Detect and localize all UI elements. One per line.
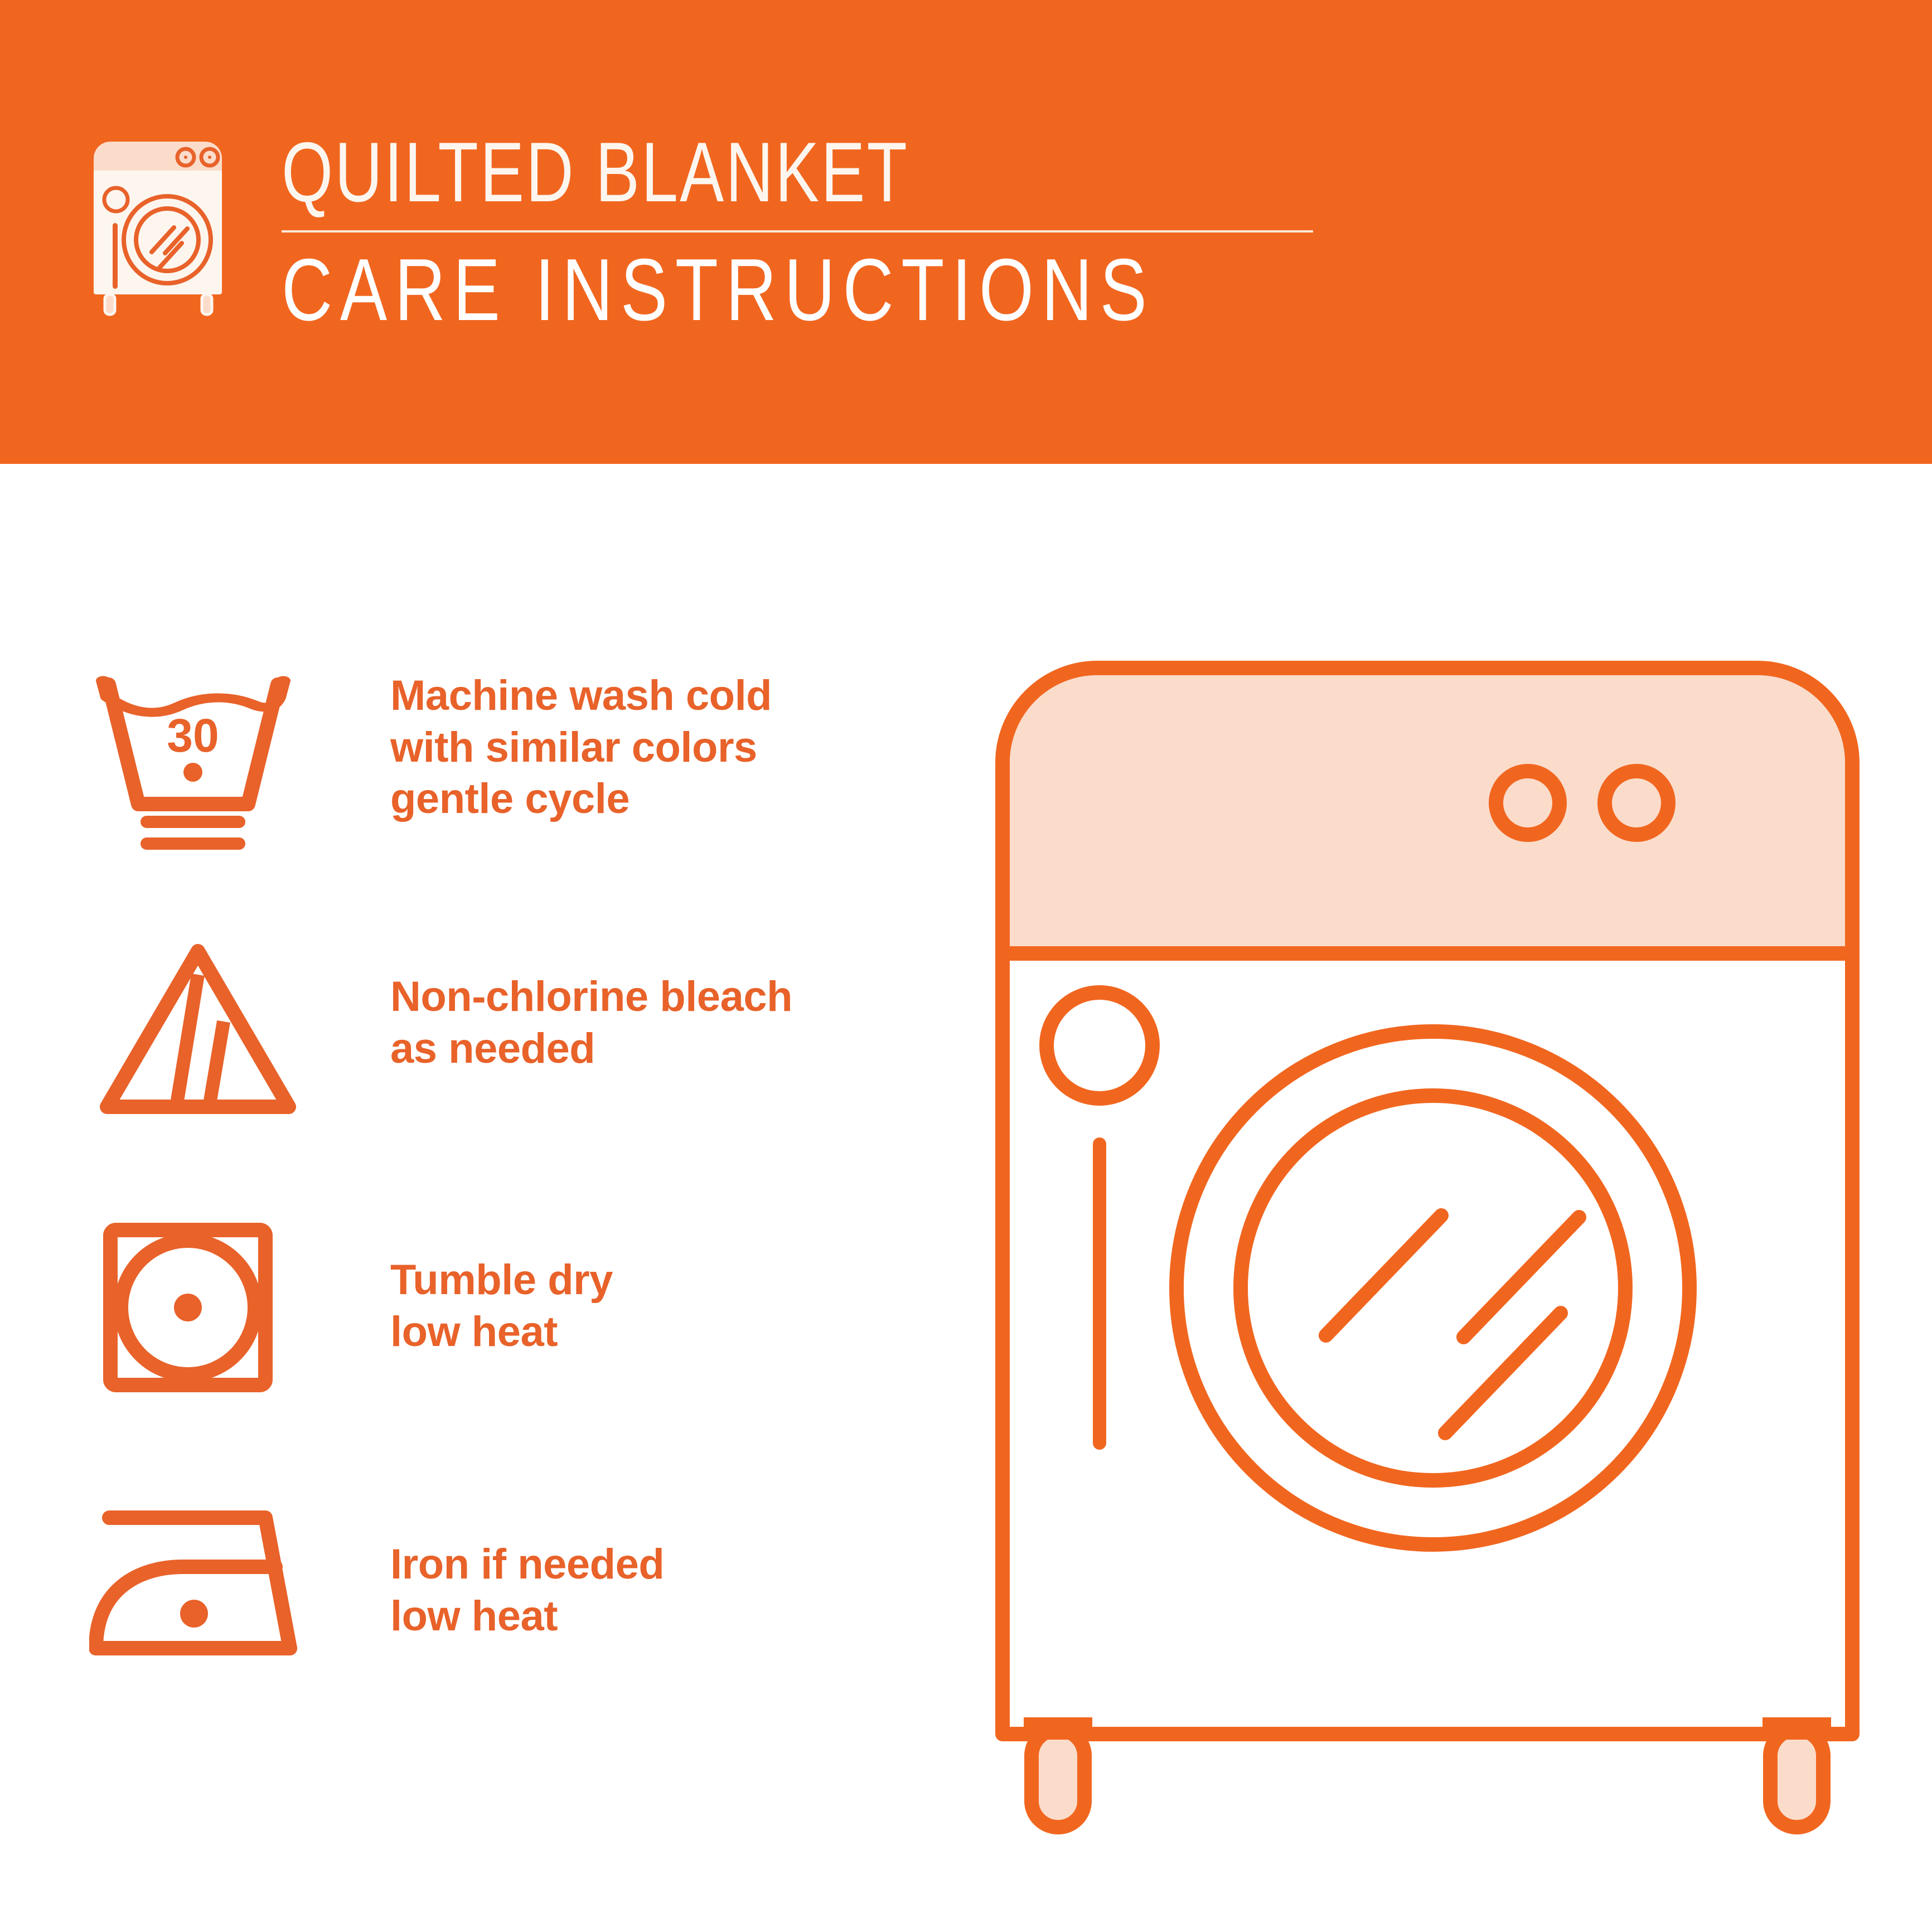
large-washing-machine-illustration [970,636,1885,1862]
title-divider [282,230,1313,233]
wash-temperature-value: 30 [167,709,219,762]
tumble-dry-low-heat-icon [101,1221,274,1394]
header-band: QUILTED BLANKET CARE INSTRUCTIONS [0,0,1932,464]
care-instruction-list: 30 Machine wash cold with similar colors… [0,658,937,1751]
wash-tub-30-gentle-icon: 30 [89,658,296,864]
leg-right [1770,1730,1823,1827]
care-text-line: Tumble dry [390,1255,613,1306]
care-item-tumble-dry: Tumble dry low heat [0,1204,937,1478]
care-item-label: Iron if needed low heat [390,1539,664,1642]
door-handle [1093,1137,1106,1450]
care-item-machine-wash: 30 Machine wash cold with similar colors… [0,658,937,931]
care-text-line: low heat [390,1306,613,1358]
care-item-label: Machine wash cold with similar colors ge… [390,670,772,825]
care-item-iron: Iron if needed low heat [0,1478,937,1751]
care-item-bleach: Non-chlorine bleach as needed [0,931,937,1204]
control-panel [1010,675,1845,946]
care-text-line: with similar colors [390,722,772,774]
care-item-label: Non-chlorine bleach as needed [390,971,792,1074]
care-text-line: as needed [390,1023,792,1075]
care-text-line: Non-chlorine bleach [390,971,792,1023]
care-item-label: Tumble dry low heat [390,1255,613,1358]
page-subtitle: CARE INSTRUCTIONS [282,246,1109,334]
care-text-line: low heat [390,1591,664,1643]
care-text-line: Machine wash cold [390,670,772,722]
washing-machine-icon [84,134,251,323]
care-text-line: Iron if needed [390,1539,664,1591]
care-text-line: gentle cycle [390,773,772,825]
non-chlorine-bleach-triangle-icon [95,937,301,1143]
page-title: QUILTED BLANKET [282,129,1088,216]
iron-low-heat-icon [89,1504,301,1672]
header-text-block: QUILTED BLANKET CARE INSTRUCTIONS [282,129,1316,334]
leg-left [1032,1730,1084,1827]
